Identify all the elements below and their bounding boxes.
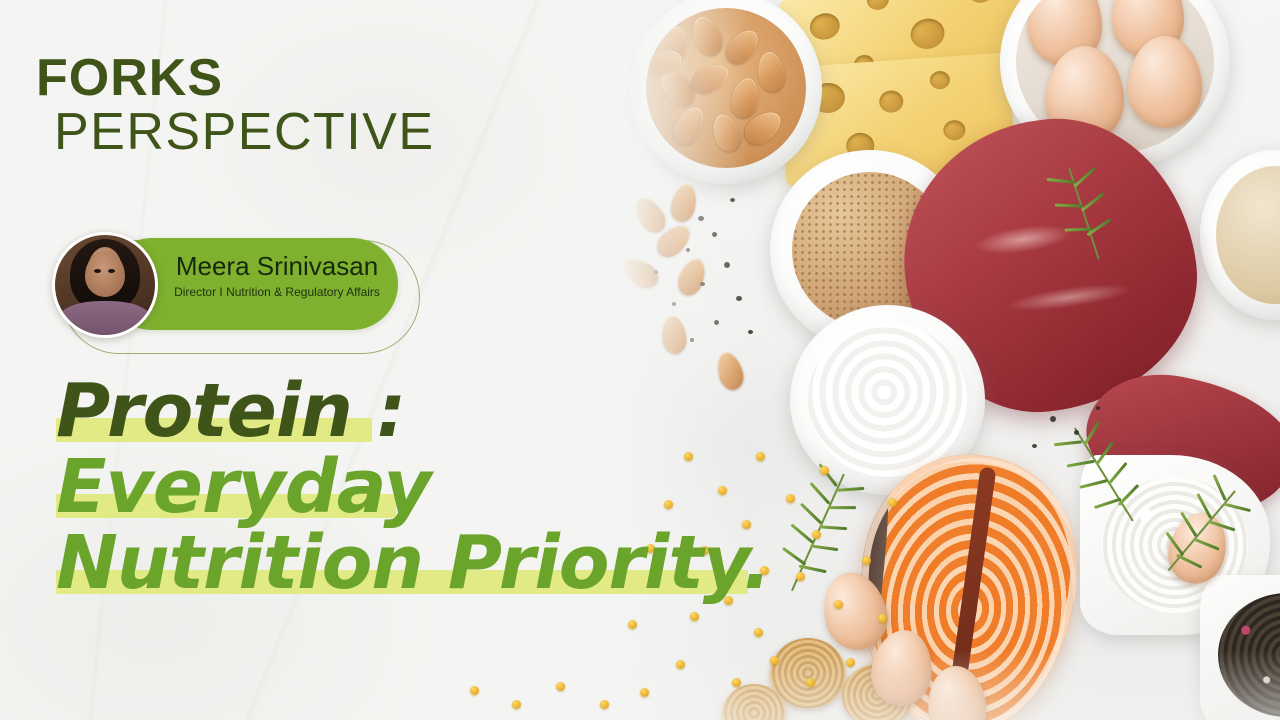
- brand-lockup: FORKS PERSPECTIVE: [36, 52, 435, 160]
- presenter-name: Meera Srinivasan: [154, 252, 400, 281]
- headline-text-3: Nutrition Priority.: [56, 526, 770, 600]
- presenter-badge[interactable]: Meera Srinivasan Director I Nutrition & …: [46, 228, 418, 352]
- slide-content: FORKS PERSPECTIVE Meera Srinivasan Direc…: [0, 0, 1280, 720]
- brand-line-forks: FORKS: [36, 52, 435, 104]
- avatar: [52, 232, 158, 338]
- headline-line-1: Protein :: [56, 374, 796, 448]
- headline-line-2: Everyday: [56, 450, 796, 524]
- brand-line-perspective: PERSPECTIVE: [54, 104, 435, 160]
- headline-line-3: Nutrition Priority.: [56, 526, 796, 600]
- headline-text-2: Everyday: [56, 450, 431, 524]
- headline: Protein : Everyday Nutrition Priority.: [56, 374, 796, 602]
- slide-canvas: FORKS PERSPECTIVE Meera Srinivasan Direc…: [0, 0, 1280, 720]
- presenter-role: Director I Nutrition & Regulatory Affair…: [154, 285, 400, 299]
- avatar-face: [85, 251, 125, 297]
- headline-text-1: Protein :: [56, 374, 405, 448]
- badge-text-group: Meera Srinivasan Director I Nutrition & …: [154, 252, 400, 299]
- avatar-shirt: [59, 301, 151, 338]
